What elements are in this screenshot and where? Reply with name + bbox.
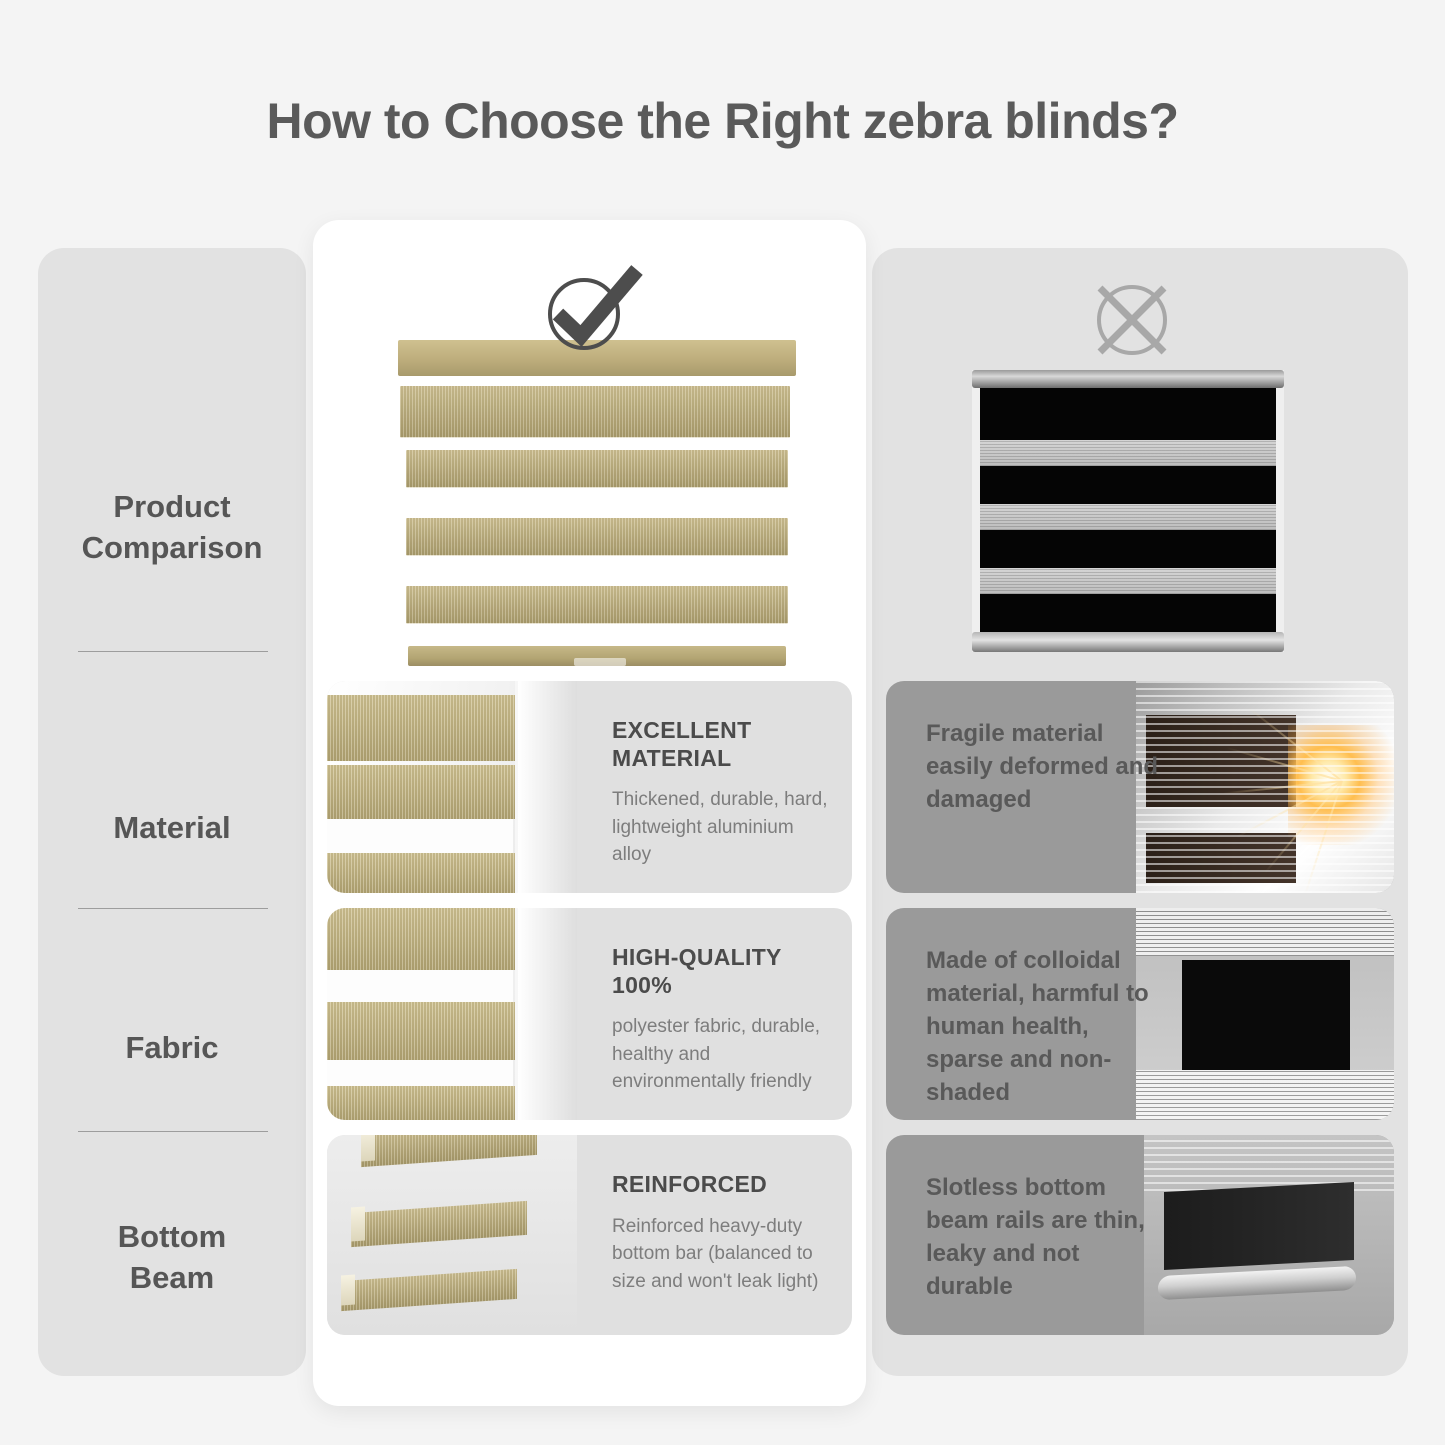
bad-fabric-text: Made of colloidal material, harmful to h… xyxy=(886,908,1186,1120)
sidebar-label-bottom-beam: Bottom Beam xyxy=(118,1217,226,1299)
good-bottom-beam-photo xyxy=(327,1135,577,1335)
sidebar-label-material: Material xyxy=(113,808,230,849)
bad-fabric-label: Made of colloidal material, harmful to h… xyxy=(926,944,1168,1110)
infographic-page: How to Choose the Right zebra blinds? Pr… xyxy=(0,0,1445,1445)
tan-bottom-bar-photo xyxy=(361,1135,537,1167)
page-title: How to Choose the Right zebra blinds? xyxy=(0,92,1445,150)
bar-end-cap xyxy=(361,1135,375,1161)
good-bottom-beam-body: Reinforced heavy-duty bottom bar (balanc… xyxy=(612,1213,834,1296)
good-card-material: EXCELLENT MATERIAL Thickened, durable, h… xyxy=(327,681,852,893)
good-material-body: Thickened, durable, hard, lightweight al… xyxy=(612,786,834,869)
good-bottom-beam-text: REINFORCED Reinforced heavy-duty bottom … xyxy=(572,1135,852,1335)
tan-blind-slat xyxy=(406,518,788,556)
sidebar-label-product-comparison: Product Comparison xyxy=(82,487,263,569)
bad-card-bottom-beam: Slotless bottom beam rails are thin, lea… xyxy=(886,1135,1394,1335)
sidebar-divider-1 xyxy=(78,651,268,652)
cross-circle-icon xyxy=(1084,272,1180,368)
bad-material-text: Fragile material easily deformed and dam… xyxy=(886,681,1186,893)
good-fabric-body: polyester fabric, durable, healthy and e… xyxy=(612,1013,834,1096)
black-blind-sheer-stripe xyxy=(980,440,1276,466)
tan-blind-slat xyxy=(400,386,790,438)
tan-slat-photo xyxy=(327,1086,523,1120)
good-material-title: EXCELLENT MATERIAL xyxy=(612,717,834,772)
sheer-gap-photo xyxy=(327,970,513,1002)
tan-slat-photo xyxy=(327,908,523,970)
black-blind-headrail xyxy=(972,370,1284,388)
bad-hero-image xyxy=(972,370,1284,652)
black-blind-sheer-stripe xyxy=(980,568,1276,594)
sheer-gap-photo xyxy=(327,819,513,853)
black-blind-body xyxy=(980,388,1276,632)
black-fabric-panel xyxy=(1182,960,1350,1070)
sheer-gap-photo xyxy=(327,1060,513,1086)
bad-card-fabric: Made of colloidal material, harmful to h… xyxy=(886,908,1394,1120)
sidebar-divider-3 xyxy=(78,1131,268,1132)
sidebar-item-material: Material xyxy=(38,768,306,888)
sidebar-item-bottom-beam: Bottom Beam xyxy=(38,1188,306,1328)
sidebar-divider-2 xyxy=(78,908,268,909)
good-bottom-beam-title: REINFORCED xyxy=(612,1171,834,1199)
bad-card-material: Fragile material easily deformed and dam… xyxy=(886,681,1394,893)
sidebar-label-fabric: Fabric xyxy=(125,1028,218,1069)
black-blind-bottom-rail xyxy=(972,632,1284,652)
good-material-photo xyxy=(327,681,577,893)
tan-blind-bottom-bar xyxy=(408,646,786,666)
tan-slat-photo xyxy=(327,765,523,819)
thin-bottom-rail xyxy=(1158,1266,1356,1300)
tan-blind-slat xyxy=(406,450,788,488)
good-fabric-text: HIGH-QUALITY 100% polyester fabric, dura… xyxy=(572,908,852,1120)
tan-slat-photo xyxy=(327,1002,523,1060)
bad-bottom-beam-label: Slotless bottom beam rails are thin, lea… xyxy=(926,1171,1168,1303)
tan-slat-photo xyxy=(327,853,523,893)
good-fabric-title: HIGH-QUALITY 100% xyxy=(612,944,834,999)
good-material-text: EXCELLENT MATERIAL Thickened, durable, h… xyxy=(572,681,852,893)
good-card-fabric: HIGH-QUALITY 100% polyester fabric, dura… xyxy=(327,908,852,1120)
tan-bottom-bar-photo xyxy=(341,1269,517,1311)
window-frame-photo xyxy=(515,681,577,893)
check-circle-icon xyxy=(536,258,646,358)
sidebar-item-product-comparison: Product Comparison xyxy=(38,428,306,628)
bad-bottom-beam-text: Slotless bottom beam rails are thin, lea… xyxy=(886,1135,1186,1335)
good-card-bottom-beam: REINFORCED Reinforced heavy-duty bottom … xyxy=(327,1135,852,1335)
bar-end-cap xyxy=(351,1207,365,1242)
black-blind-sheer-stripe xyxy=(980,504,1276,530)
sidebar-item-fabric: Fabric xyxy=(38,988,306,1108)
bar-end-cap xyxy=(341,1275,355,1306)
good-fabric-photo xyxy=(327,908,577,1120)
tan-slat-photo xyxy=(327,695,523,761)
dark-blind-panel xyxy=(1164,1182,1354,1270)
bad-material-label: Fragile material easily deformed and dam… xyxy=(926,717,1168,816)
window-frame-photo xyxy=(515,908,577,1120)
sidebar-categories: Product Comparison Material Fabric Botto… xyxy=(38,248,306,1376)
tan-bottom-bar-photo xyxy=(351,1201,527,1247)
tan-blind-slat xyxy=(406,586,788,624)
good-hero-image xyxy=(392,340,798,670)
